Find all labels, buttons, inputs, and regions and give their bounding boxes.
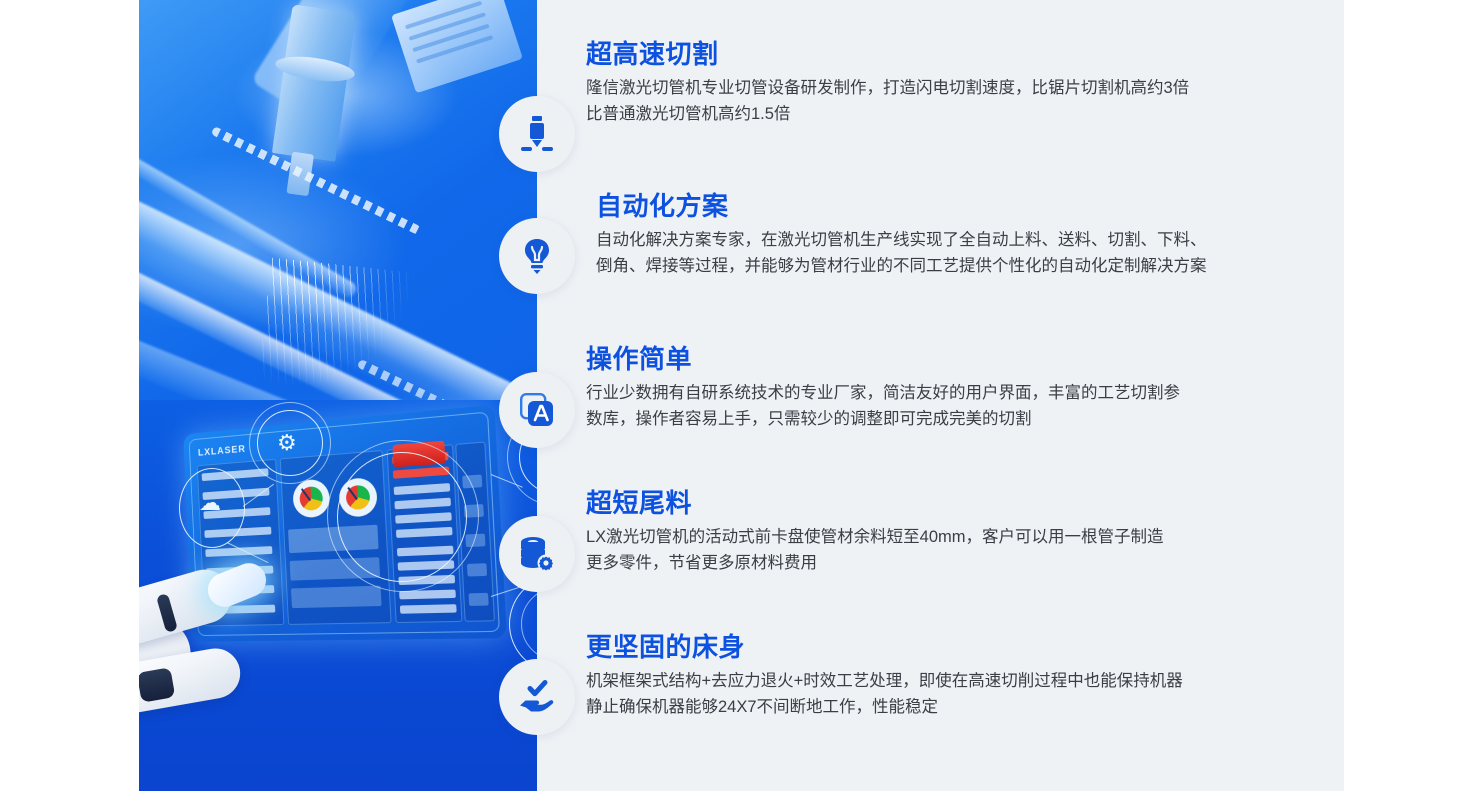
feature-title: 超高速切割 xyxy=(586,38,1338,71)
feature-body: 超短尾料 LX激光切管机的活动式前卡盘使管材余料短至40mm，客户可以用一根管子… xyxy=(586,487,1338,576)
features-panel: 超高速切割 隆信激光切管机专业切管设备研发制作，打造闪电切割速度，比锯片切割机高… xyxy=(537,0,1344,791)
feature-body: 更坚固的床身 机架框架式结构+去应力退火+时效工艺处理，即使在高速切削过程中也能… xyxy=(586,631,1338,720)
warning-placard xyxy=(391,0,523,93)
cloud-network-icon: ☁ xyxy=(199,492,221,514)
feature-title: 操作简单 xyxy=(586,343,1338,376)
feature-description: LX激光切管机的活动式前卡盘使管材余料短至40mm，客户可以用一根管子制造 更多… xyxy=(586,524,1338,576)
laser-cutting-head-icon xyxy=(499,96,575,172)
feature-description: 机架框架式结构+去应力退火+时效工艺处理，即使在高速切削过程中也能保持机器 静止… xyxy=(586,668,1338,720)
gears-icon: ⚙ xyxy=(277,432,297,454)
feature-description: 隆信激光切管机专业切管设备研发制作，打造闪电切割速度，比锯片切割机高约3倍 比普… xyxy=(586,75,1338,127)
robot-hand xyxy=(139,540,319,730)
hud-focus-ring-inner xyxy=(337,452,467,582)
feature-description: 自动化解决方案专家，在激光切管机生产线实现了全自动上料、送料、切割、下料、 倒角… xyxy=(596,227,1348,279)
feature-title: 自动化方案 xyxy=(596,190,1348,223)
feature-body: 超高速切割 隆信激光切管机专业切管设备研发制作，打造闪电切割速度，比锯片切割机高… xyxy=(586,38,1338,127)
product-photo-panel: LXLASER xyxy=(139,0,537,791)
hmi-scene: LXLASER xyxy=(139,400,537,791)
hand-check-icon xyxy=(499,659,575,735)
feature-body: 操作简单 行业少数拥有自研系统技术的专业厂家，简洁友好的用户界面，丰富的工艺切割… xyxy=(586,343,1338,432)
promo-feature-page: LXLASER xyxy=(0,0,1480,791)
database-gear-icon xyxy=(499,516,575,592)
robot-knuckle-3 xyxy=(139,667,175,702)
feature-description: 行业少数拥有自研系统技术的专业厂家，简洁友好的用户界面，丰富的工艺切割参 数库，… xyxy=(586,380,1338,432)
app-letter-a-icon xyxy=(499,372,575,448)
feature-body: 自动化方案 自动化解决方案专家，在激光切管机生产线实现了全自动上料、送料、切割、… xyxy=(596,190,1348,279)
feature-title: 更坚固的床身 xyxy=(586,631,1338,664)
feature-title: 超短尾料 xyxy=(586,487,1338,520)
lightbulb-icon xyxy=(499,218,575,294)
